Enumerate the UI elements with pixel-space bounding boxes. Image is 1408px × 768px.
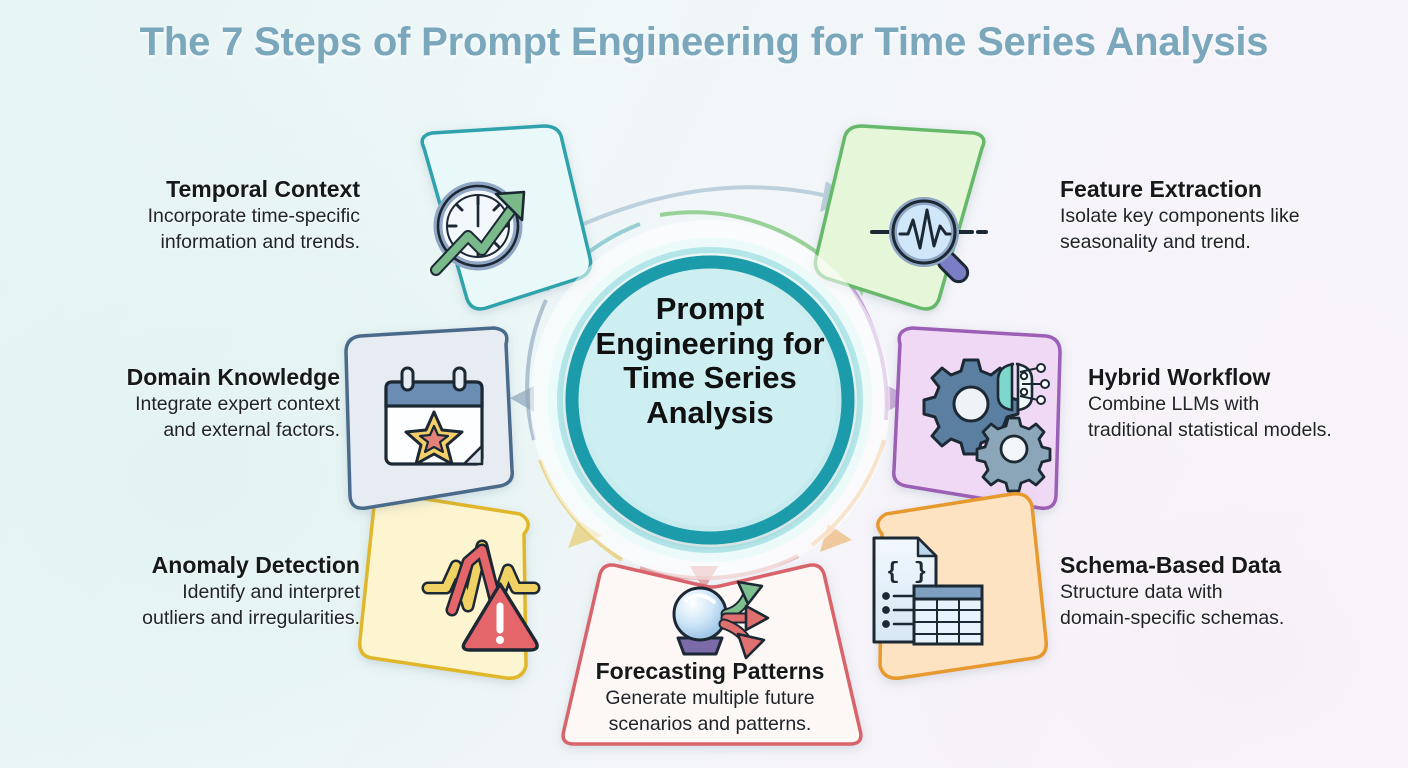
infographic-canvas: { }	[0, 0, 1408, 768]
cycle-diagram: { }	[0, 0, 1408, 768]
svg-text:{ }: { }	[886, 559, 927, 585]
calendar-star-icon	[386, 368, 482, 464]
center-hub[interactable]	[530, 220, 890, 580]
